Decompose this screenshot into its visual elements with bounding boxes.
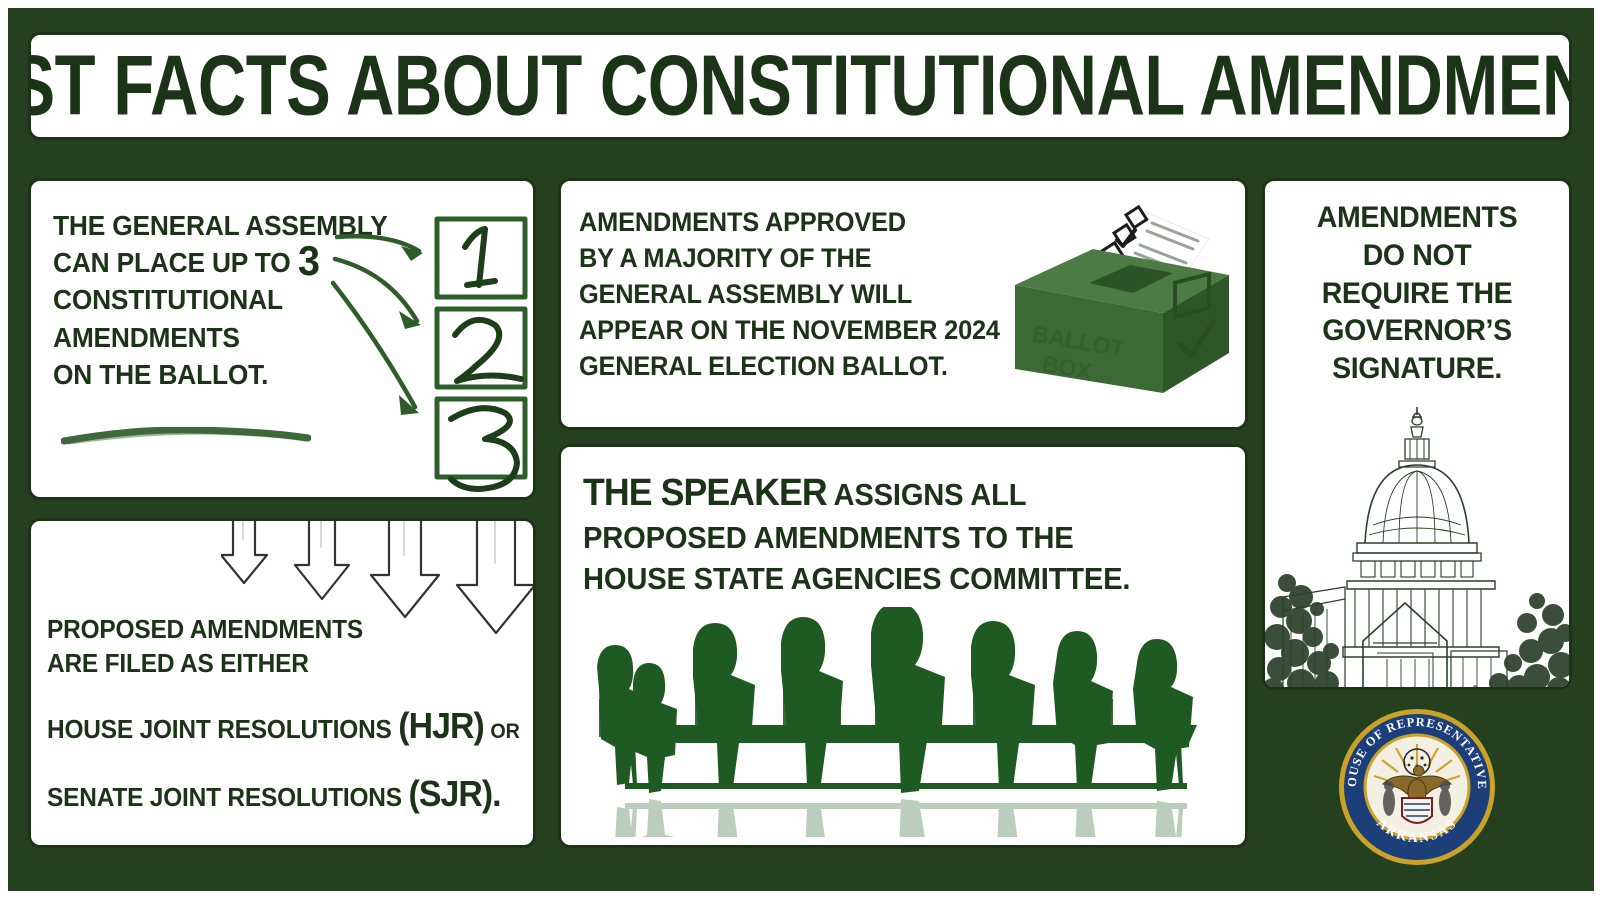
assembly-line-2-prefix: CAN PLACE UP TO [53,247,291,278]
frame-edge-right [1594,0,1600,900]
frame-edge-bottom [0,891,1600,900]
resolutions-line-2: ARE FILED AS EITHER [47,647,508,681]
sjr-abbreviation: (SJR) [409,773,493,814]
hand-drawn-underline-icon [61,427,311,445]
panel-speaker-committee: THE SPEAKER ASSIGNS ALL PROPOSED AMENDME… [558,444,1248,848]
governor-line-5: SIGNATURE. [1273,350,1562,388]
hjr-text: HOUSE JOINT RESOLUTIONS [47,714,392,744]
panel-general-assembly: THE GENERAL ASSEMBLY CAN PLACE UP TO3 CO… [28,178,536,500]
ballot-line-2: BY A MAJORITY OF THE [579,241,1002,277]
ballot-line-4: APPEAR ON THE NOVEMBER 2024 [579,313,1002,349]
resolutions-line-3: HOUSE JOINT RESOLUTIONS (HJR) OR [47,703,508,750]
committee-meeting-silhouette-icon [575,607,1235,837]
governor-line-1: AMENDMENTS [1273,199,1562,237]
governor-line-3: REQUIRE THE [1273,275,1562,313]
governor-line-4: GOVERNOR’S [1273,312,1562,350]
governor-text-block: AMENDMENTS DO NOT REQUIRE THE GOVERNOR’S… [1265,199,1569,388]
panel-proposed-resolutions: PROPOSED AMENDMENTS ARE FILED AS EITHER … [28,518,536,848]
panel-ballot-appearance: AMENDMENTS APPROVED BY A MAJORITY OF THE… [558,178,1248,430]
frame-edge-top [0,0,1600,8]
resolutions-conjunction: OR [490,720,519,743]
page-title: FAST FACTS ABOUT CONSTITUTIONAL AMENDMEN… [28,44,1572,129]
arkansas-house-seal: HOUSE OF REPRESENTATIVES ARKANSAS [1336,706,1498,868]
assembly-line-4: AMENDMENTS [53,319,363,356]
assembly-text-block: THE GENERAL ASSEMBLY CAN PLACE UP TO3 CO… [53,207,363,393]
infographic-root: FAST FACTS ABOUT CONSTITUTIONAL AMENDMEN… [0,0,1600,900]
title-banner: FAST FACTS ABOUT CONSTITUTIONAL AMENDMEN… [28,32,1572,140]
curved-arrows-icon [331,229,441,449]
assembly-number-three: 3 [291,237,320,284]
resolutions-line-4: SENATE JOINT RESOLUTIONS (SJR). [47,771,508,818]
speaker-line-3: HOUSE STATE AGENCIES COMMITTEE. [583,559,1185,599]
speaker-emphasis: THE SPEAKER [583,472,827,514]
speaker-line-1: THE SPEAKER ASSIGNS ALL [583,469,1185,518]
speaker-line-1-rest: ASSIGNS ALL [834,477,1027,512]
ballot-line-5: GENERAL ELECTION BALLOT. [579,349,1002,385]
panel-governor-signature: AMENDMENTS DO NOT REQUIRE THE GOVERNOR’S… [1262,178,1572,690]
resolutions-text-block: PROPOSED AMENDMENTS ARE FILED AS EITHER … [47,613,508,818]
ballot-line-3: GENERAL ASSEMBLY WILL [579,277,1002,313]
ballot-text-block: AMENDMENTS APPROVED BY A MAJORITY OF THE… [579,205,1002,385]
speaker-line-2: PROPOSED AMENDMENTS TO THE [583,518,1185,558]
assembly-line-2: CAN PLACE UP TO3 [53,244,363,281]
assembly-line-5: ON THE BALLOT. [53,356,363,393]
state-capitol-engraving-icon [1265,401,1572,690]
ballot-box-icon: BALLOT BOX [997,193,1237,408]
governor-line-2: DO NOT [1273,237,1562,275]
speaker-text-block: THE SPEAKER ASSIGNS ALL PROPOSED AMENDME… [583,469,1185,599]
frame-edge-left [0,0,8,900]
sjr-period: . [492,773,500,814]
assembly-line-3: CONSTITUTIONAL [53,281,363,318]
numbered-boxes-icon [429,213,536,493]
ballot-line-1: AMENDMENTS APPROVED [579,205,1002,241]
sjr-text: SENATE JOINT RESOLUTIONS [47,782,402,812]
hjr-abbreviation: (HJR) [398,705,484,746]
resolutions-line-1: PROPOSED AMENDMENTS [47,613,508,647]
